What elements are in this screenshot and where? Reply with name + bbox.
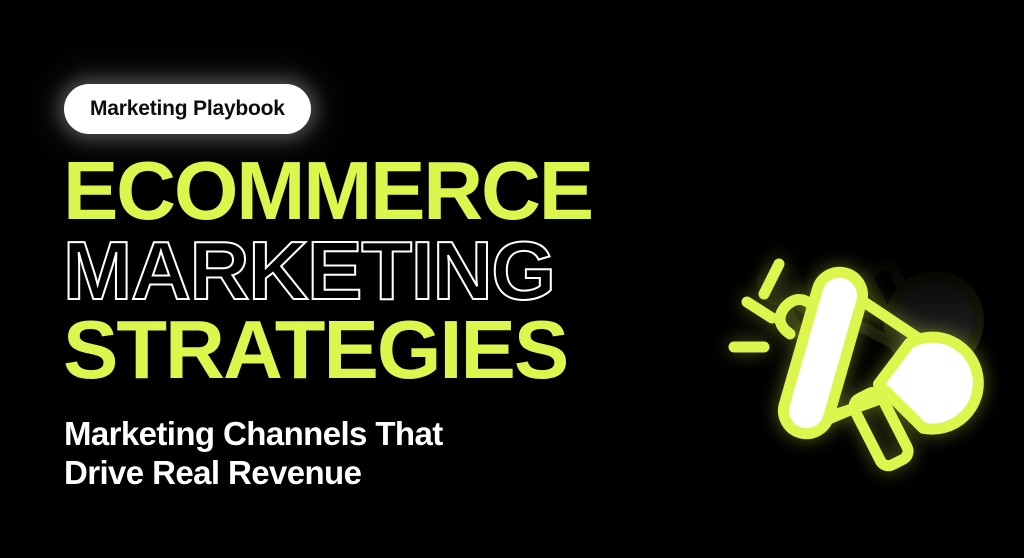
headline-line-ecommerce: ECOMMERCE [63, 150, 703, 232]
headline-block: ECOMMERCE MARKETING STRATEGIES [63, 150, 703, 390]
badge-marketing-playbook: Marketing Playbook [64, 84, 311, 134]
poster-canvas: Marketing Playbook ECOMMERCE MARKETING S… [0, 0, 1024, 558]
megaphone-icon [716, 236, 1012, 488]
headline-line-strategies: STRATEGIES [63, 309, 703, 391]
badge-label: Marketing Playbook [90, 97, 285, 121]
headline-line-marketing: MARKETING [63, 230, 703, 312]
subtitle-line-1: Marketing Channels That [64, 415, 664, 454]
subtitle-block: Marketing Channels That Drive Real Reven… [64, 415, 664, 493]
subtitle-line-2: Drive Real Revenue [64, 454, 664, 493]
sound-ray-group [734, 264, 779, 347]
